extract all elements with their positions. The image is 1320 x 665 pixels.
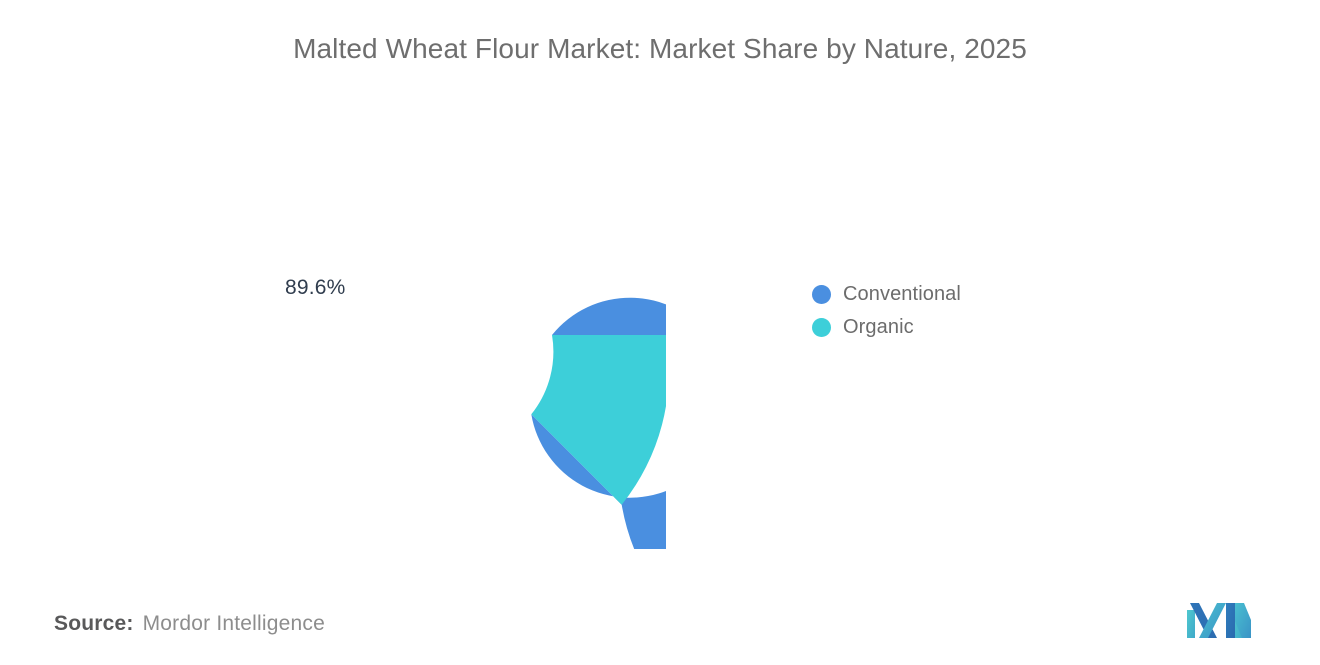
legend-swatch-circle-icon <box>812 285 831 304</box>
chart-legend: Conventional Organic <box>812 283 961 338</box>
donut-slice-label-conventional: 89.6% <box>285 276 346 300</box>
source-line: Source: Mordor Intelligence <box>54 612 325 636</box>
source-label: Source: <box>54 612 134 636</box>
legend-item-label: Organic <box>843 316 914 339</box>
legend-item-organic[interactable]: Organic <box>812 316 961 338</box>
donut-chart-svg <box>238 121 666 549</box>
chart-title: Malted Wheat Flour Market: Market Share … <box>0 31 1320 67</box>
mordor-intelligence-logo-svg <box>1186 601 1252 639</box>
donut-slice-organic[interactable] <box>531 335 666 505</box>
source-value: Mordor Intelligence <box>143 612 325 636</box>
legend-item-conventional[interactable]: Conventional <box>812 283 961 305</box>
mordor-intelligence-logo-icon <box>1186 601 1252 639</box>
chart-figure: Malted Wheat Flour Market: Market Share … <box>0 0 1320 665</box>
legend-swatch-circle-icon <box>812 318 831 337</box>
donut-chart: 89.6% <box>238 121 666 549</box>
legend-item-label: Conventional <box>843 283 961 306</box>
